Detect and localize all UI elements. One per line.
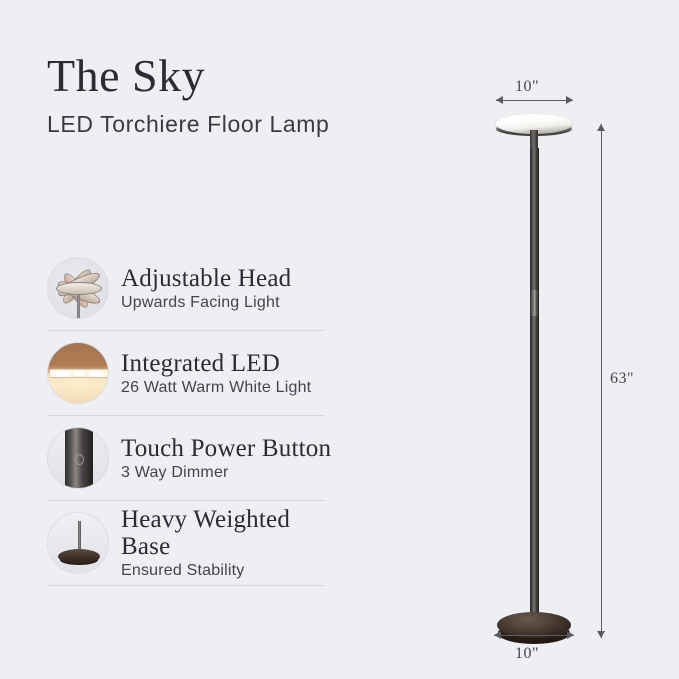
feature-title: Touch Power Button: [121, 435, 331, 462]
product-infographic: The Sky LED Torchiere Floor Lamp Adjusta…: [0, 0, 679, 679]
integrated-led-thumbnail: [47, 342, 109, 404]
feature-divider: [47, 500, 325, 501]
page-title: The Sky: [47, 52, 329, 100]
touch-power-button-thumbnail: [47, 427, 109, 489]
feature-subtitle: 3 Way Dimmer: [121, 464, 331, 482]
feature-title: Heavy Weighted Base: [121, 506, 337, 560]
feature-title: Integrated LED: [121, 350, 311, 377]
feature-text: Heavy Weighted Base Ensured Stability: [121, 506, 337, 580]
feature-title: Adjustable Head: [121, 265, 291, 292]
adjustable-head-thumbnail: [47, 257, 109, 319]
dimension-label-base-width: 10": [515, 645, 539, 663]
feature-text: Adjustable Head Upwards Facing Light: [121, 265, 291, 312]
header: The Sky LED Torchiere Floor Lamp: [47, 52, 329, 138]
feature-item-heavy-weighted-base: Heavy Weighted Base Ensured Stability: [47, 507, 337, 579]
feature-subtitle: Upwards Facing Light: [121, 294, 291, 312]
lamp-pole: [530, 148, 539, 626]
dimension-label-head-width: 10": [515, 78, 539, 96]
feature-item-integrated-led: Integrated LED 26 Watt Warm White Light: [47, 337, 337, 409]
page-subtitle: LED Torchiere Floor Lamp: [47, 111, 329, 138]
floor-lamp-illustration: [470, 60, 645, 660]
lamp-touch-button: [530, 290, 539, 316]
feature-text: Touch Power Button 3 Way Dimmer: [121, 435, 331, 482]
dimension-arrow-base-width: [494, 631, 574, 640]
weighted-base-thumbnail: [47, 512, 109, 574]
dimension-arrow-head-width: [496, 96, 573, 105]
feature-divider: [47, 585, 325, 586]
feature-divider: [47, 330, 325, 331]
feature-divider: [47, 415, 325, 416]
dimension-label-height: 63": [610, 370, 634, 388]
feature-subtitle: 26 Watt Warm White Light: [121, 379, 311, 397]
feature-item-touch-power-button: Touch Power Button 3 Way Dimmer: [47, 422, 337, 494]
feature-subtitle: Ensured Stability: [121, 562, 337, 580]
feature-item-adjustable-head: Adjustable Head Upwards Facing Light: [47, 252, 337, 324]
feature-list: Adjustable Head Upwards Facing Light Int…: [47, 252, 337, 592]
feature-text: Integrated LED 26 Watt Warm White Light: [121, 350, 311, 397]
dimension-arrow-height: [597, 124, 606, 638]
